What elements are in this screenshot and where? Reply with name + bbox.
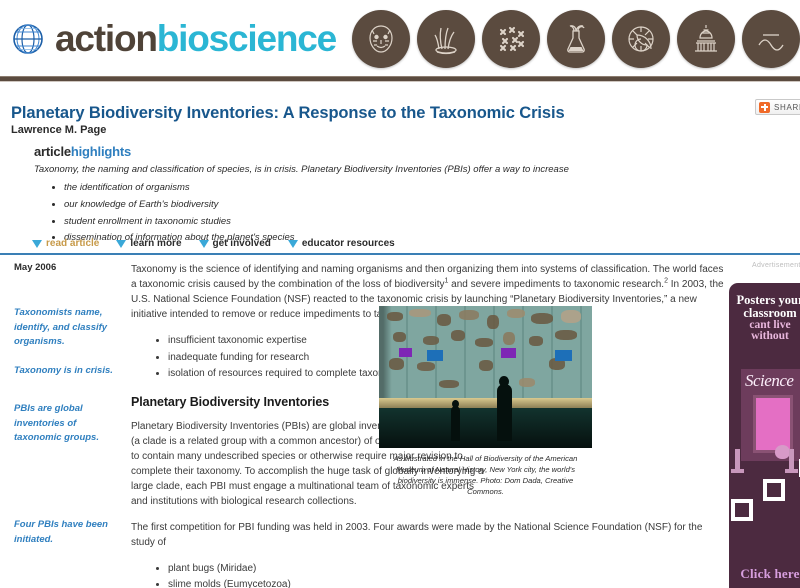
share-button[interactable]: SHARE: [755, 99, 800, 115]
award-text: slime molds (Eumycetozoa): [168, 579, 291, 588]
award-text: plant bugs (Miridae): [168, 563, 256, 574]
article-author: Lawrence M. Page: [11, 124, 106, 136]
figure-caption: As illustrated in the Hall of Biodiversi…: [379, 453, 592, 497]
tiger-icon[interactable]: [352, 10, 410, 68]
ad-decoration-square: [731, 499, 753, 521]
site-logo[interactable]: actionbioscience: [0, 20, 336, 58]
ad-headline-line2: classroom: [743, 306, 796, 320]
pull-quote: Taxonomy is in crisis.: [14, 364, 134, 379]
nav-label: get involved: [213, 238, 271, 249]
museum-display-ledge: [379, 398, 592, 408]
highlights-list: the identification of organisms our know…: [34, 180, 594, 247]
pull-quote: Four PBIs have been initiated.: [14, 518, 134, 547]
highlights-heading-a: article: [34, 144, 71, 159]
nav-divider: [0, 253, 800, 255]
ad-creature: [775, 445, 790, 459]
logo-action-text: action: [55, 18, 157, 59]
article-highlights: articlehighlights Taxonomy, the naming a…: [34, 144, 594, 247]
ad-doorway: [753, 395, 793, 453]
capitol-dome-icon[interactable]: [677, 10, 735, 68]
main-content: May 2006 Taxonomists name, identify, and…: [0, 262, 800, 588]
flask-plant-icon[interactable]: [547, 10, 605, 68]
list-item: student enrollment in taxonomic studies: [64, 214, 594, 231]
marsh-plant-icon[interactable]: [417, 10, 475, 68]
pull-quote: PBIs are global inventories of taxonomic…: [14, 402, 126, 446]
partial-icon[interactable]: [742, 10, 800, 68]
page-root: actionbioscience: [0, 0, 800, 588]
chromosome-icon[interactable]: [482, 10, 540, 68]
paragraph-funding: The first competition for PBI funding wa…: [131, 520, 727, 550]
article-sidebar: May 2006 Taxonomists name, identify, and…: [14, 262, 126, 273]
pull-quote: Taxonomists name, identify, and classify…: [14, 306, 126, 350]
awards-list: plant bugs (Miridae) slime molds (Eumyce…: [131, 561, 731, 588]
nav-item-educator-resources[interactable]: educator resources: [288, 238, 395, 249]
share-label: SHARE: [774, 103, 800, 112]
highlights-intro: Taxonomy, the naming and classification …: [34, 164, 594, 176]
ad-headline-line4: without: [729, 331, 800, 343]
ammonite-shell-icon[interactable]: [612, 10, 670, 68]
nav-item-get-involved[interactable]: get involved: [199, 238, 271, 249]
list-item: slime molds (Eumycetozoa): [168, 577, 731, 588]
hall-of-biodiversity-photo: [379, 306, 592, 448]
nav-item-learn-more[interactable]: learn more: [116, 238, 181, 249]
child-head-silhouette: [452, 400, 459, 408]
child-silhouette: [451, 406, 460, 441]
list-item: the identification of organisms: [64, 180, 594, 197]
advertisement-label: Advertisement: [752, 262, 800, 269]
article-nav: read article learn more get involved edu…: [32, 238, 395, 249]
para1-part-b: and severe impediments to taxonomic rese…: [448, 279, 664, 290]
publication-date: May 2006: [14, 262, 126, 273]
logo-wordmark: actionbioscience: [55, 20, 336, 57]
article-figure: As illustrated in the Hall of Biodiversi…: [379, 306, 592, 497]
list-item: our knowledge of Earth's biodiversity: [64, 197, 594, 214]
ad-script-word: Science: [745, 371, 793, 391]
ad-cartoon-art: Science: [741, 369, 800, 461]
page-title: Planetary Biodiversity Inventories: A Re…: [11, 104, 565, 123]
nav-label: read article: [46, 238, 99, 249]
nav-label: learn more: [130, 238, 181, 249]
share-plus-icon: [759, 102, 770, 113]
ad-decoration-square: [763, 479, 785, 501]
site-header: actionbioscience: [0, 0, 800, 77]
topic-icon-bar: [352, 10, 800, 68]
chevron-down-icon: [116, 240, 126, 248]
ad-cta-link[interactable]: Click here: [729, 566, 800, 582]
nav-item-read-article[interactable]: read article: [32, 238, 99, 249]
chevron-down-icon: [288, 240, 298, 248]
chevron-down-icon: [199, 240, 209, 248]
highlights-heading: articlehighlights: [34, 144, 594, 159]
adult-silhouette: [497, 384, 512, 441]
ad-headline: Posters your classroom cant live without: [729, 294, 800, 343]
globe-icon: [9, 20, 47, 58]
list-item: plant bugs (Miridae): [168, 561, 731, 578]
adult-head-silhouette: [499, 376, 509, 387]
header-divider: [0, 76, 800, 82]
chevron-down-icon: [32, 240, 42, 248]
logo-bioscience-text: bioscience: [157, 18, 336, 59]
highlights-heading-b: highlights: [71, 144, 131, 159]
advertisement-banner[interactable]: Posters your classroom cant live without…: [729, 283, 800, 588]
museum-floor: [379, 408, 592, 448]
nav-label: educator resources: [302, 238, 395, 249]
